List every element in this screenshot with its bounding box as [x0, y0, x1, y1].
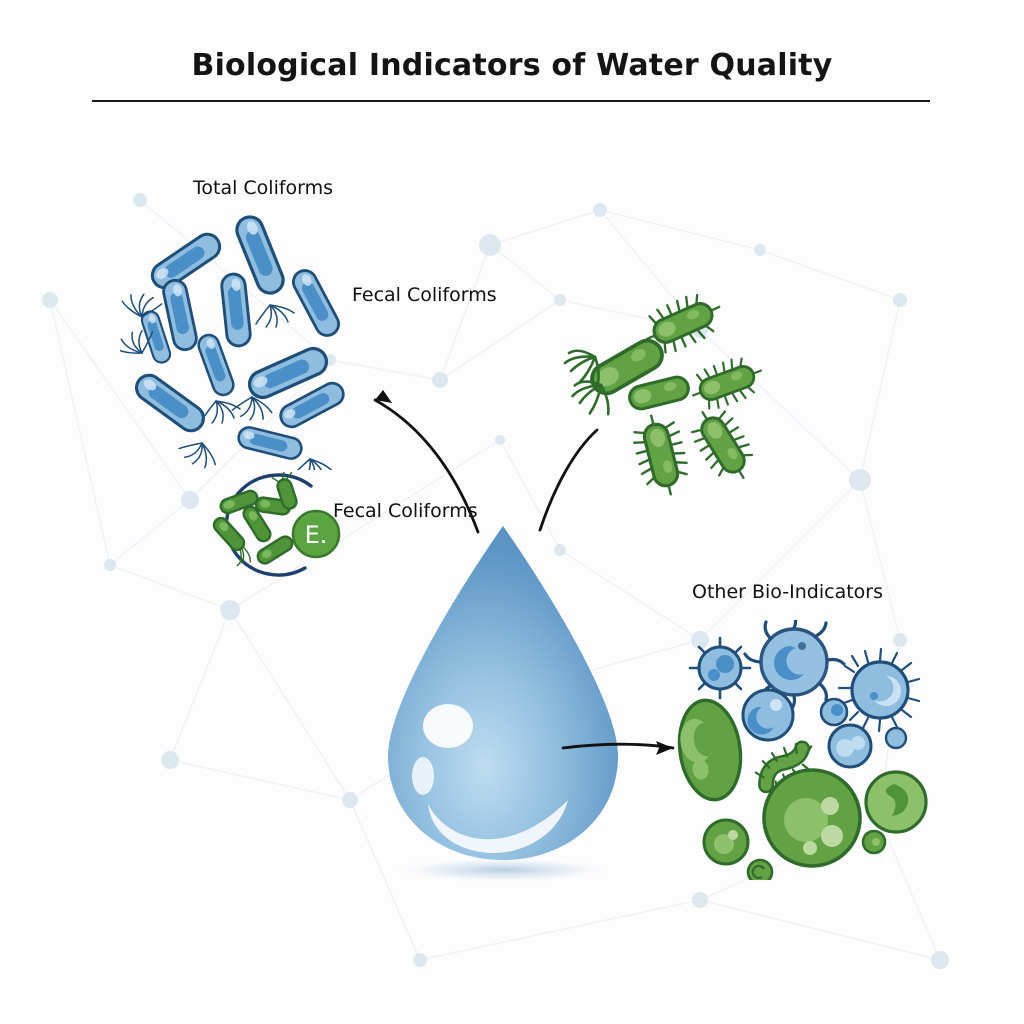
cell-green-small-1: [704, 820, 748, 864]
ecoli-badge-label: E.: [305, 521, 328, 549]
droplet-highlight-large: [423, 704, 473, 748]
water-droplet-icon: [378, 508, 628, 888]
rod-bacteria-green-cluster-icon: [555, 285, 780, 500]
virus-blue-small: [690, 638, 750, 698]
page-title: Biological Indicators of Water Quality: [0, 48, 1024, 83]
cell-green-small-2: [863, 831, 885, 853]
cell-blue-round-3: [829, 725, 871, 767]
title-divider: [92, 100, 930, 102]
droplet-highlight-small: [412, 757, 434, 795]
cell-green-oval-large: [673, 696, 746, 803]
cell-green-round-large: [764, 770, 860, 866]
label-total-coliforms: Total Coliforms: [193, 177, 333, 199]
cell-green-round-right: [866, 772, 926, 832]
cell-blue-round-2: [821, 699, 847, 725]
label-other-bio-indicators: Other Bio-Indicators: [692, 581, 883, 603]
rod-bacteria-blue-cluster-icon: [120, 205, 380, 470]
microbe-blue-hairy: [839, 649, 919, 731]
cell-green-spiral: [748, 860, 772, 880]
mixed-microbes-cluster-icon: [668, 620, 938, 880]
droplet-shadow: [388, 857, 618, 883]
cell-blue-round-4: [886, 728, 906, 748]
infographic-canvas: Biological Indicators of Water Quality T…: [0, 0, 1024, 1024]
cell-blue-round-1: [743, 690, 793, 740]
petri-dish-ecoli-icon: E.: [193, 472, 353, 582]
ecoli-badge: E.: [293, 511, 339, 557]
